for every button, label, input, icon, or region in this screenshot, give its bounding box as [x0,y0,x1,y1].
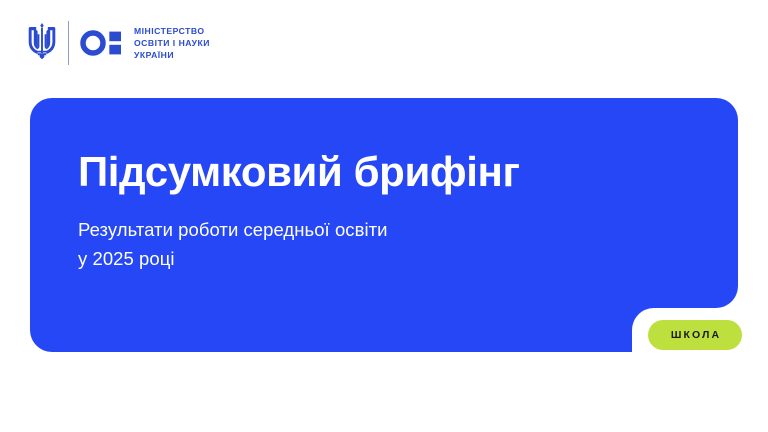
ministry-name-line-3: УКРАЇНИ [134,49,210,61]
vertical-divider-icon [68,21,69,65]
ministry-logo-lockup: МІНІСТЕРСТВО ОСВІТИ І НАУКИ УКРАЇНИ [27,17,210,69]
ukraine-trident-icon [27,22,57,64]
hero-card: Підсумковий брифінг Результати роботи се… [30,98,738,352]
mon-o-squares-logo-icon [80,30,124,56]
status-badge-label: ШКОЛА [669,330,721,341]
page-subtitle: Результати роботи середньої освіти у 202… [78,215,678,275]
ministry-name-line-1: МІНІСТЕРСТВО [134,25,210,37]
page-subtitle-line-1: Результати роботи середньої освіти [78,215,678,245]
presentation-slide: МІНІСТЕРСТВО ОСВІТИ І НАУКИ УКРАЇНИ Підс… [0,0,768,432]
status-badge: ШКОЛА [648,320,742,350]
page-title: Підсумковий брифінг [78,150,678,195]
page-subtitle-line-2: у 2025 році [78,244,678,274]
ministry-name: МІНІСТЕРСТВО ОСВІТИ І НАУКИ УКРАЇНИ [134,25,210,62]
hero-card-content: Підсумковий брифінг Результати роботи се… [78,150,678,274]
ministry-name-line-2: ОСВІТИ І НАУКИ [134,37,210,49]
